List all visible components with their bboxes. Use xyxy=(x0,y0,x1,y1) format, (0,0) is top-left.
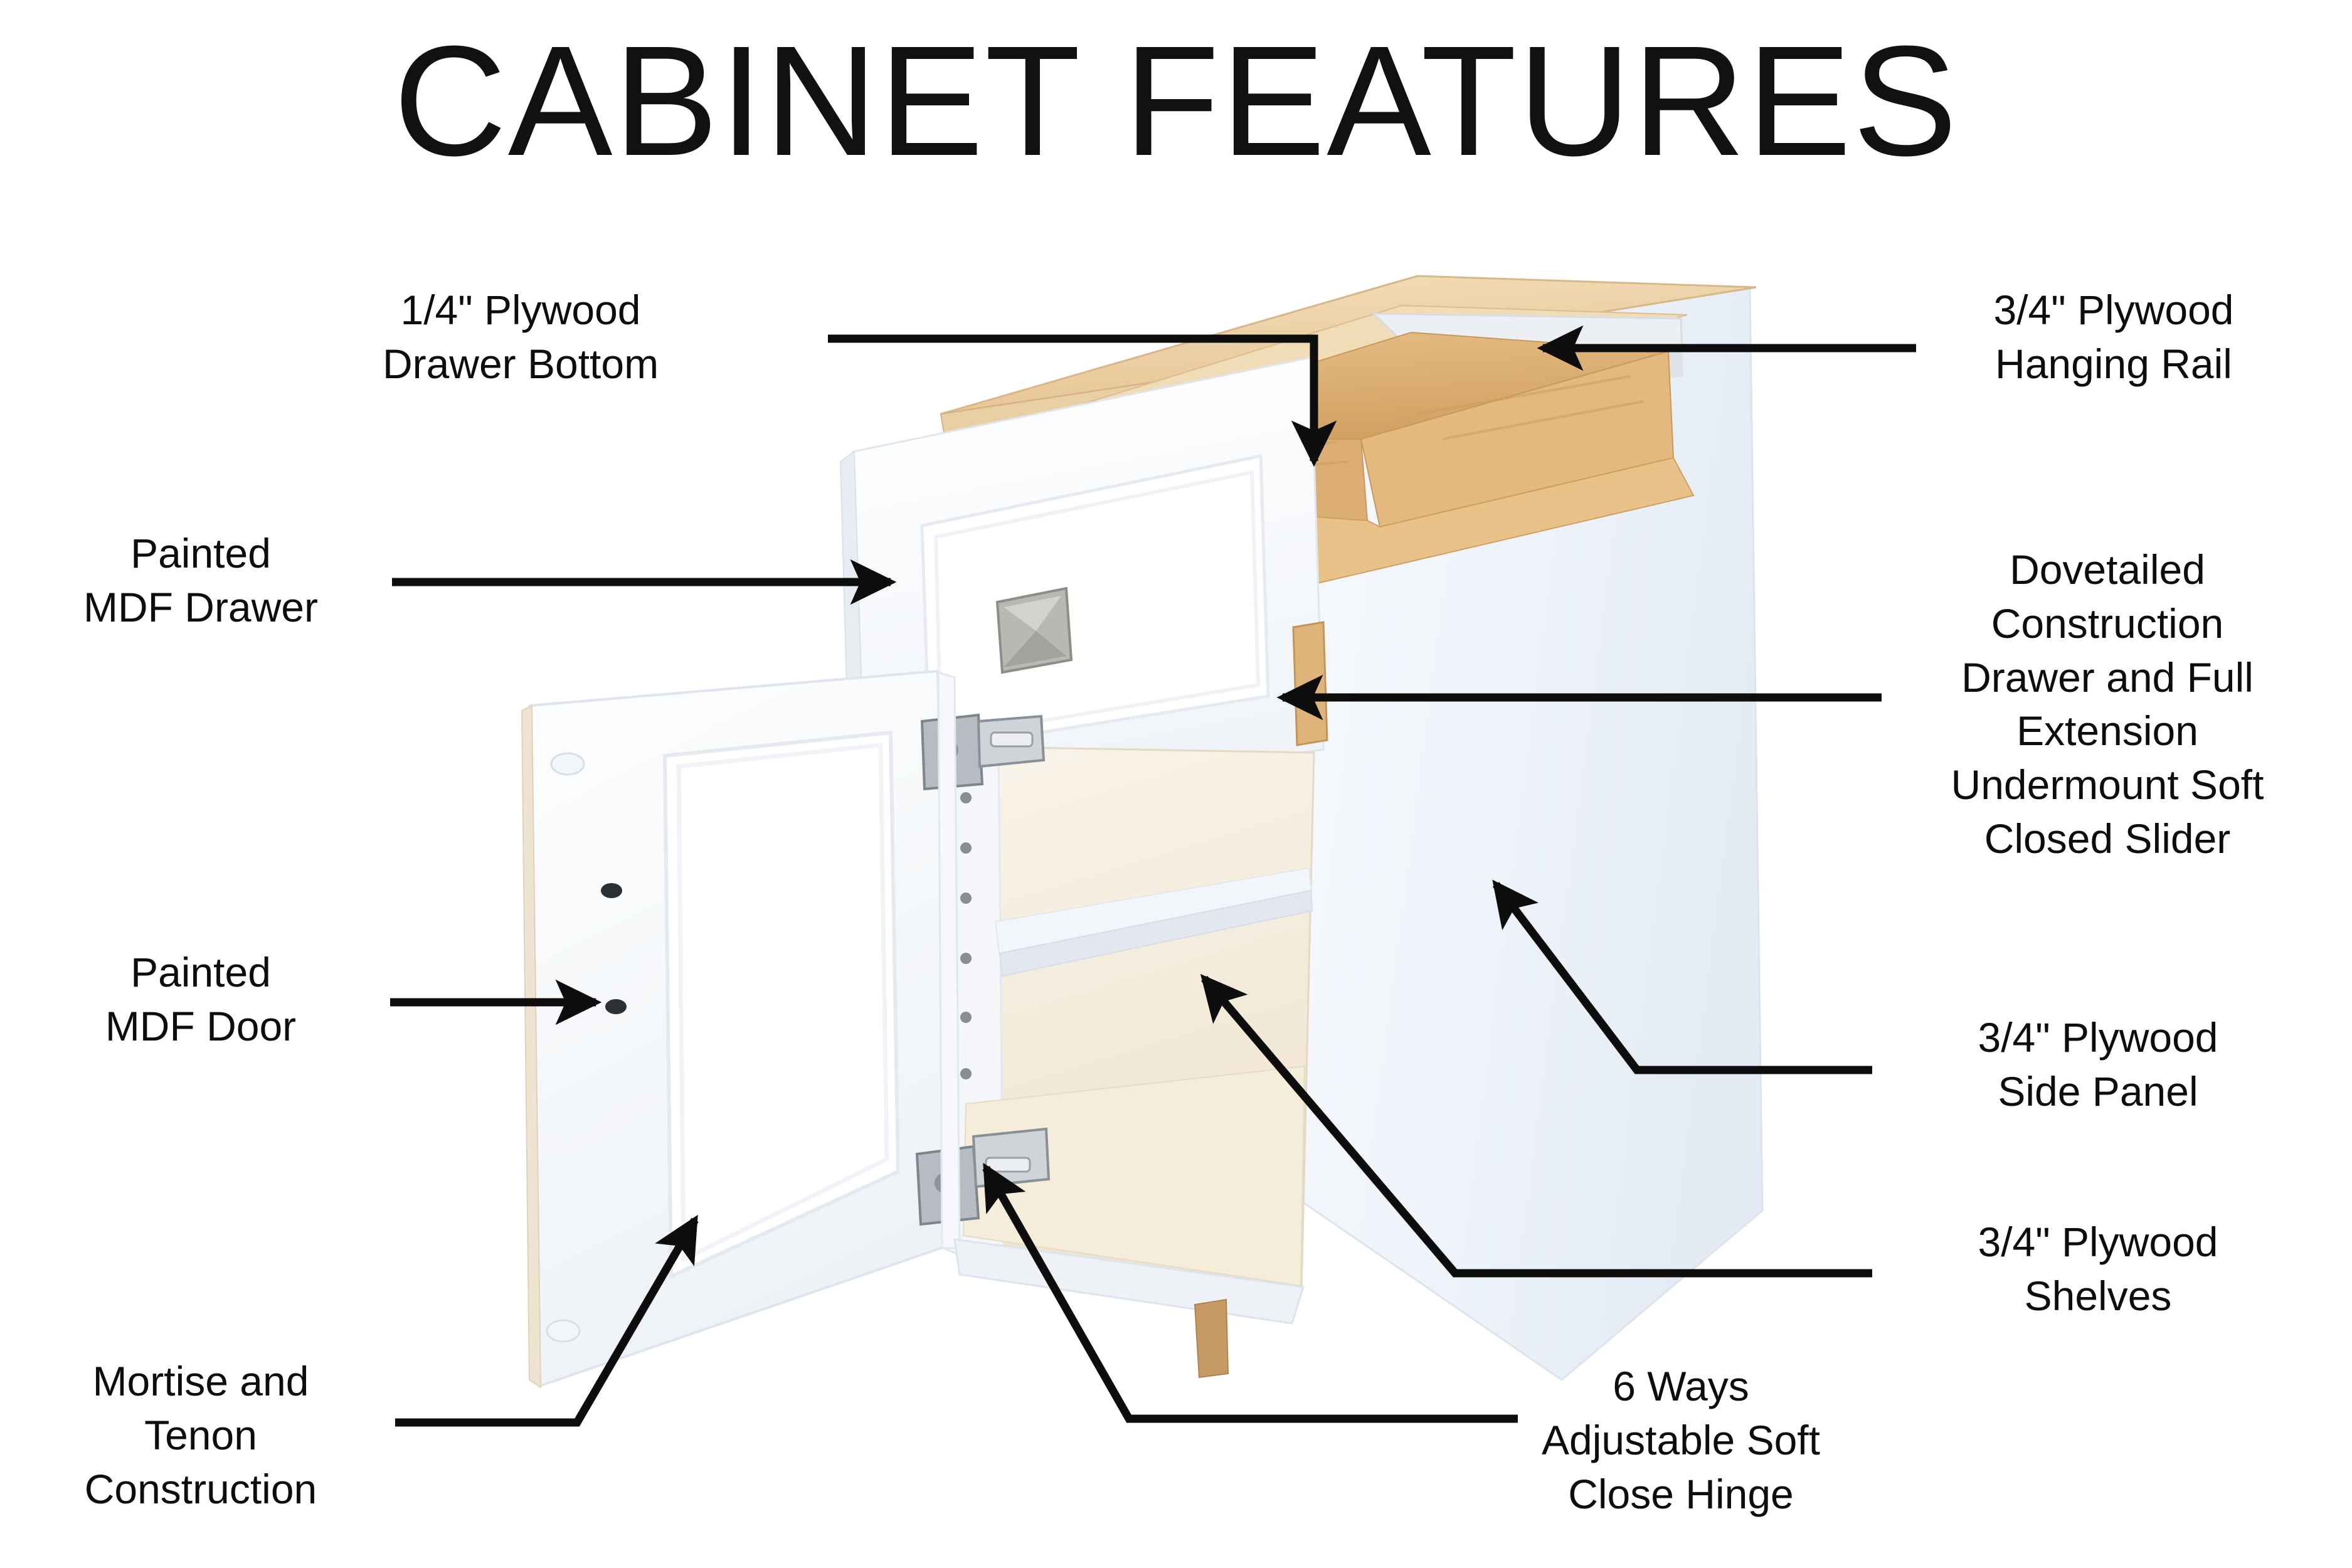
cabinet-interior-left-wall xyxy=(935,721,1004,1273)
callout-mortise-tenon: Mortise and Tenon Construction xyxy=(13,1355,389,1516)
callout-shelves: 3/4" Plywood Shelves xyxy=(1888,1216,2308,1323)
cabinet-shelf-top xyxy=(996,869,1311,953)
carcass-interior-opening xyxy=(1010,305,1687,426)
drawer-front-left-edge xyxy=(840,452,866,822)
arrow-soft-close-hinge xyxy=(986,1168,1518,1419)
callout-drawer-bottom: 1/4" Plywood Drawer Bottom xyxy=(339,283,702,391)
hanging-rail xyxy=(1374,314,1682,380)
callout-painted-mdf-door: Painted MDF Door xyxy=(19,946,383,1054)
drawer-box-front-rail xyxy=(866,401,1298,543)
drawer-front-inner-panel-bevel xyxy=(936,472,1258,738)
cabinet-side-panel xyxy=(1292,289,1762,1380)
hinge-upper xyxy=(922,715,1044,789)
drawer-box-side-right xyxy=(953,495,1308,734)
infographic-canvas: CABINET FEATURES xyxy=(0,0,2352,1568)
drawer-box-inner xyxy=(978,486,1286,582)
carcass-interior-back-wall xyxy=(1066,332,1668,439)
cabinet-base-edge xyxy=(955,1239,1303,1323)
arrow-side-panel xyxy=(1496,884,1872,1070)
hanging-rail-shadow xyxy=(1443,351,1683,408)
callout-side-panel: 3/4" Plywood Side Panel xyxy=(1888,1011,2308,1119)
door-left-edge xyxy=(522,706,541,1387)
cabinet-top-front-edge xyxy=(941,359,1314,433)
arrow-mortise-tenon xyxy=(395,1220,695,1422)
carcass-interior-right-wall xyxy=(1361,351,1673,527)
carcass-interior-left-wall xyxy=(1066,439,1367,521)
drawer-front-inner-panel xyxy=(922,456,1268,750)
cabinet-interior-floor xyxy=(963,1066,1305,1286)
cabinet-base-wood-sliver xyxy=(1195,1300,1228,1377)
drawer-knob xyxy=(997,588,1071,672)
drawer-slide-detail xyxy=(1293,622,1327,745)
shelf-pin-holes xyxy=(960,792,972,1079)
cabinet-door xyxy=(530,671,950,1386)
callout-dovetailed-construction: Dovetailed Construction Drawer and Full … xyxy=(1888,543,2327,866)
arrow-drawer-bottom xyxy=(828,339,1314,461)
hinge-cup-bores xyxy=(547,753,584,1342)
callout-soft-close-hinge: 6 Ways Adjustable Soft Close Hinge xyxy=(1480,1360,1882,1521)
drawer-knob-facet xyxy=(1004,596,1061,631)
cabinet-shelf-underside xyxy=(1000,891,1312,976)
cabinet-photo-group xyxy=(522,276,1762,1387)
door-inner-panel xyxy=(665,733,898,1276)
cabinet-top-deck xyxy=(941,276,1756,414)
arrow-shelves xyxy=(1204,978,1872,1273)
callout-painted-mdf-drawer: Painted MDF Drawer xyxy=(19,527,383,635)
drawer-box-top-edge xyxy=(953,495,1301,592)
cabinet-front-stile xyxy=(938,672,960,1248)
carcass-interior-floor xyxy=(1104,458,1693,583)
callout-hanging-rail: 3/4" Plywood Hanging Rail xyxy=(1919,283,2308,391)
callout-arrows xyxy=(390,339,1916,1422)
plywood-grain-lines xyxy=(1123,376,1643,477)
door-adjustment-screws xyxy=(601,883,627,1014)
hinge-lower xyxy=(917,1129,1049,1224)
door-inner-panel-bevel xyxy=(679,745,887,1259)
cabinet-shelf-edge xyxy=(996,869,1311,953)
cabinet-interior-cavity xyxy=(953,746,1314,1292)
drawer-knob-facet-lower xyxy=(1004,631,1066,667)
page-title: CABINET FEATURES xyxy=(0,19,2352,184)
drawer-front xyxy=(853,358,1323,815)
